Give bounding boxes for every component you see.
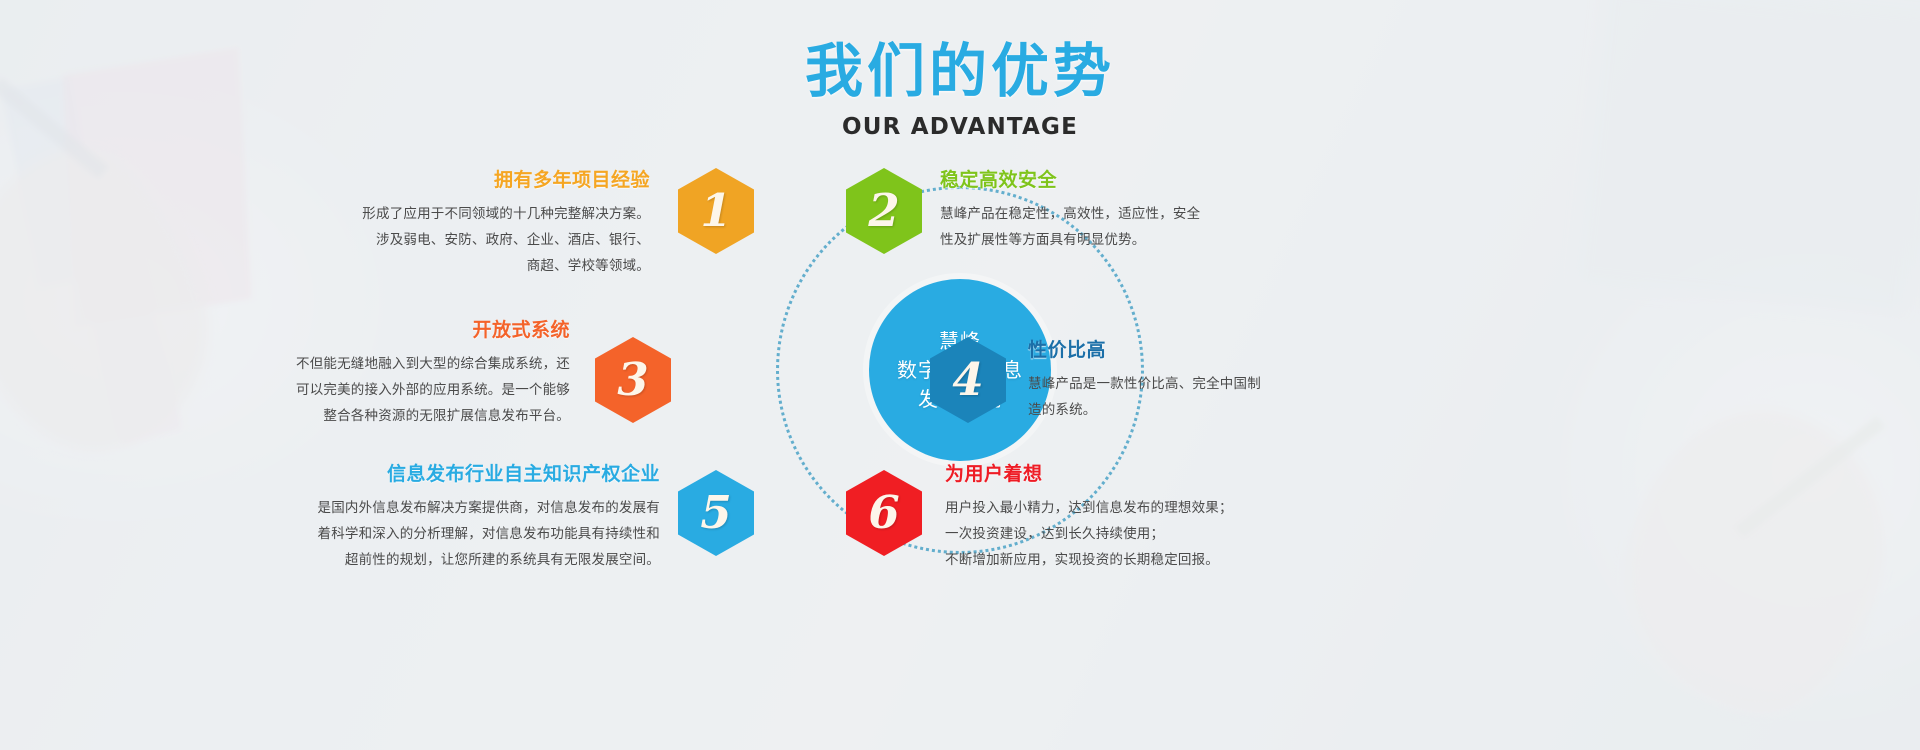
advantage-item-4-line-2: 造的系统。 (1028, 398, 1508, 424)
advantage-item-5-title: 信息发布行业自主知识产权企业 (120, 462, 660, 487)
advantage-infographic: 我们的优势 OUR ADVANTAGE 慧峰 数字媒体信息 发布系统 1 2 3… (0, 0, 1920, 750)
page-header: 我们的优势 OUR ADVANTAGE (0, 40, 1920, 140)
advantage-item-5-line-2: 着科学和深入的分析理解，对信息发布功能具有持续性和 (120, 522, 660, 548)
hex-badge-6-number: 6 (868, 490, 899, 535)
advantage-item-6: 为用户着想 用户投入最小精力，达到信息发布的理想效果； 一次投资建设，达到长久持… (945, 462, 1465, 573)
advantage-item-2: 稳定高效安全 慧峰产品在稳定性，高效性，适应性，安全 性及扩展性等方面具有明显优… (940, 168, 1460, 254)
advantage-item-6-title: 为用户着想 (945, 462, 1465, 487)
advantage-item-3-title: 开放式系统 (100, 318, 570, 343)
hex-badge-3-number: 3 (617, 357, 648, 402)
advantage-item-4-line-1: 慧峰产品是一款性价比高、完全中国制 (1028, 372, 1508, 398)
hex-badge-4-number: 4 (952, 357, 983, 402)
advantage-item-5-body: 是国内外信息发布解决方案提供商，对信息发布的发展有 着科学和深入的分析理解，对信… (120, 496, 660, 574)
advantage-item-2-line-2: 性及扩展性等方面具有明显优势。 (940, 228, 1460, 254)
advantage-item-1-body: 形成了应用于不同领域的十几种完整解决方案。 涉及弱电、安防、政府、企业、酒店、银… (150, 202, 650, 280)
advantage-item-6-line-3: 不断增加新应用，实现投资的长期稳定回报。 (945, 548, 1465, 574)
hex-badge-5-number: 5 (700, 490, 731, 535)
advantage-item-3-body: 不但能无缝地融入到大型的综合集成系统，还 可以完美的接入外部的应用系统。是一个能… (100, 352, 570, 430)
advantage-item-2-line-1: 慧峰产品在稳定性，高效性，适应性，安全 (940, 202, 1460, 228)
advantage-item-6-line-2: 一次投资建设，达到长久持续使用； (945, 522, 1465, 548)
advantage-item-5-line-3: 超前性的规划，让您所建的系统具有无限发展空间。 (120, 548, 660, 574)
advantage-item-3-line-3: 整合各种资源的无限扩展信息发布平台。 (100, 404, 570, 430)
hex-badge-2-number: 2 (868, 188, 899, 233)
advantage-item-1-title: 拥有多年项目经验 (150, 168, 650, 193)
page-title-en: OUR ADVANTAGE (0, 114, 1920, 140)
advantage-item-6-line-1: 用户投入最小精力，达到信息发布的理想效果； (945, 496, 1465, 522)
hex-badge-1-number: 1 (700, 188, 731, 233)
advantage-item-3-line-2: 可以完美的接入外部的应用系统。是一个能够 (100, 378, 570, 404)
advantage-item-1: 拥有多年项目经验 形成了应用于不同领域的十几种完整解决方案。 涉及弱电、安防、政… (150, 168, 650, 279)
advantage-item-2-body: 慧峰产品在稳定性，高效性，适应性，安全 性及扩展性等方面具有明显优势。 (940, 202, 1460, 254)
advantage-item-4: 性价比高 慧峰产品是一款性价比高、完全中国制 造的系统。 (1028, 338, 1508, 424)
advantage-item-1-line-1: 形成了应用于不同领域的十几种完整解决方案。 (150, 202, 650, 228)
advantage-item-1-line-3: 商超、学校等领域。 (150, 254, 650, 280)
advantage-item-5-line-1: 是国内外信息发布解决方案提供商，对信息发布的发展有 (120, 496, 660, 522)
advantage-item-4-body: 慧峰产品是一款性价比高、完全中国制 造的系统。 (1028, 372, 1508, 424)
advantage-item-6-body: 用户投入最小精力，达到信息发布的理想效果； 一次投资建设，达到长久持续使用； 不… (945, 496, 1465, 574)
advantage-item-3: 开放式系统 不但能无缝地融入到大型的综合集成系统，还 可以完美的接入外部的应用系… (100, 318, 570, 429)
advantage-item-3-line-1: 不但能无缝地融入到大型的综合集成系统，还 (100, 352, 570, 378)
advantage-item-2-title: 稳定高效安全 (940, 168, 1460, 193)
advantage-item-1-line-2: 涉及弱电、安防、政府、企业、酒店、银行、 (150, 228, 650, 254)
advantage-item-4-title: 性价比高 (1028, 338, 1508, 363)
page-title-cn: 我们的优势 (0, 40, 1920, 104)
advantage-item-5: 信息发布行业自主知识产权企业 是国内外信息发布解决方案提供商，对信息发布的发展有… (120, 462, 660, 573)
